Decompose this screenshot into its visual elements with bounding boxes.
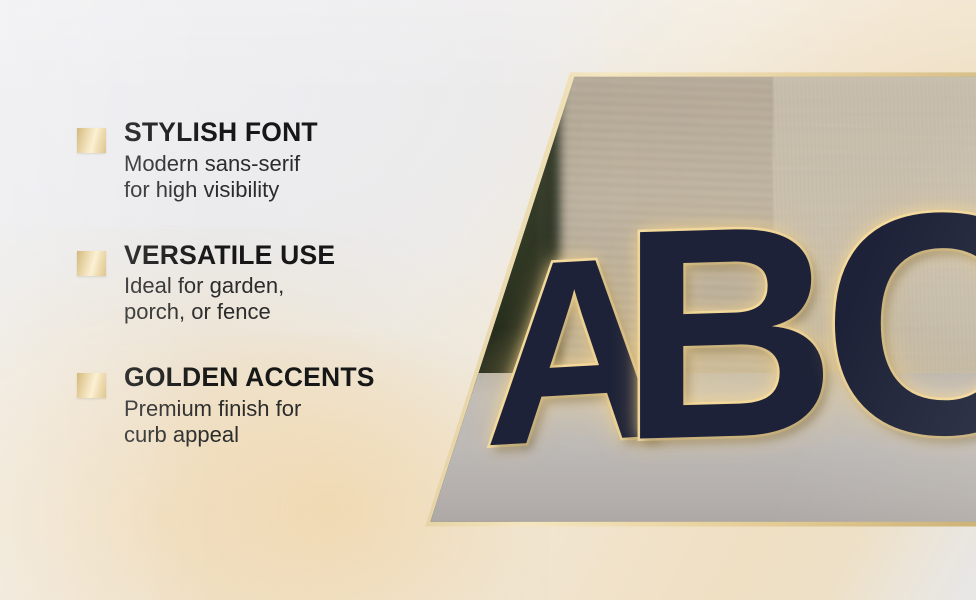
feature-description: Modern sans-serif for high visibility (124, 151, 467, 203)
gold-square-marker-icon (77, 373, 106, 398)
feature-body: VERSATILE USE Ideal for garden, porch, o… (124, 241, 467, 326)
feature-body: STYLISH FONT Modern sans-serif for high … (124, 118, 467, 203)
feature-body: GOLDEN ACCENTS Premium finish for curb a… (124, 363, 467, 448)
feature-title: VERSATILE USE (124, 241, 467, 270)
feature-description-line: Modern sans-serif (124, 151, 467, 177)
feature-description-line: for high visibility (124, 177, 467, 203)
feature-item: GOLDEN ACCENTS Premium finish for curb a… (77, 363, 467, 448)
feature-description: Ideal for garden, porch, or fence (124, 273, 467, 325)
feature-item: VERSATILE USE Ideal for garden, porch, o… (77, 241, 467, 326)
feature-description-line: porch, or fence (124, 299, 467, 325)
letter-b: B (620, 179, 837, 485)
feature-list: STYLISH FONT Modern sans-serif for high … (77, 118, 467, 448)
gold-square-marker-icon (77, 128, 106, 153)
feature-description: Premium finish for curb appeal (124, 396, 467, 448)
feature-title: STYLISH FONT (124, 118, 467, 147)
feature-title: GOLDEN ACCENTS (124, 363, 467, 392)
feature-description-line: Premium finish for (124, 396, 467, 422)
feature-item: STYLISH FONT Modern sans-serif for high … (77, 118, 467, 203)
feature-description-line: curb appeal (124, 422, 467, 448)
letter-c: C (822, 166, 976, 482)
feature-highlight-slide: STYLISH FONT Modern sans-serif for high … (0, 0, 976, 600)
feature-description-line: Ideal for garden, (124, 273, 467, 299)
gold-square-marker-icon (77, 251, 106, 276)
